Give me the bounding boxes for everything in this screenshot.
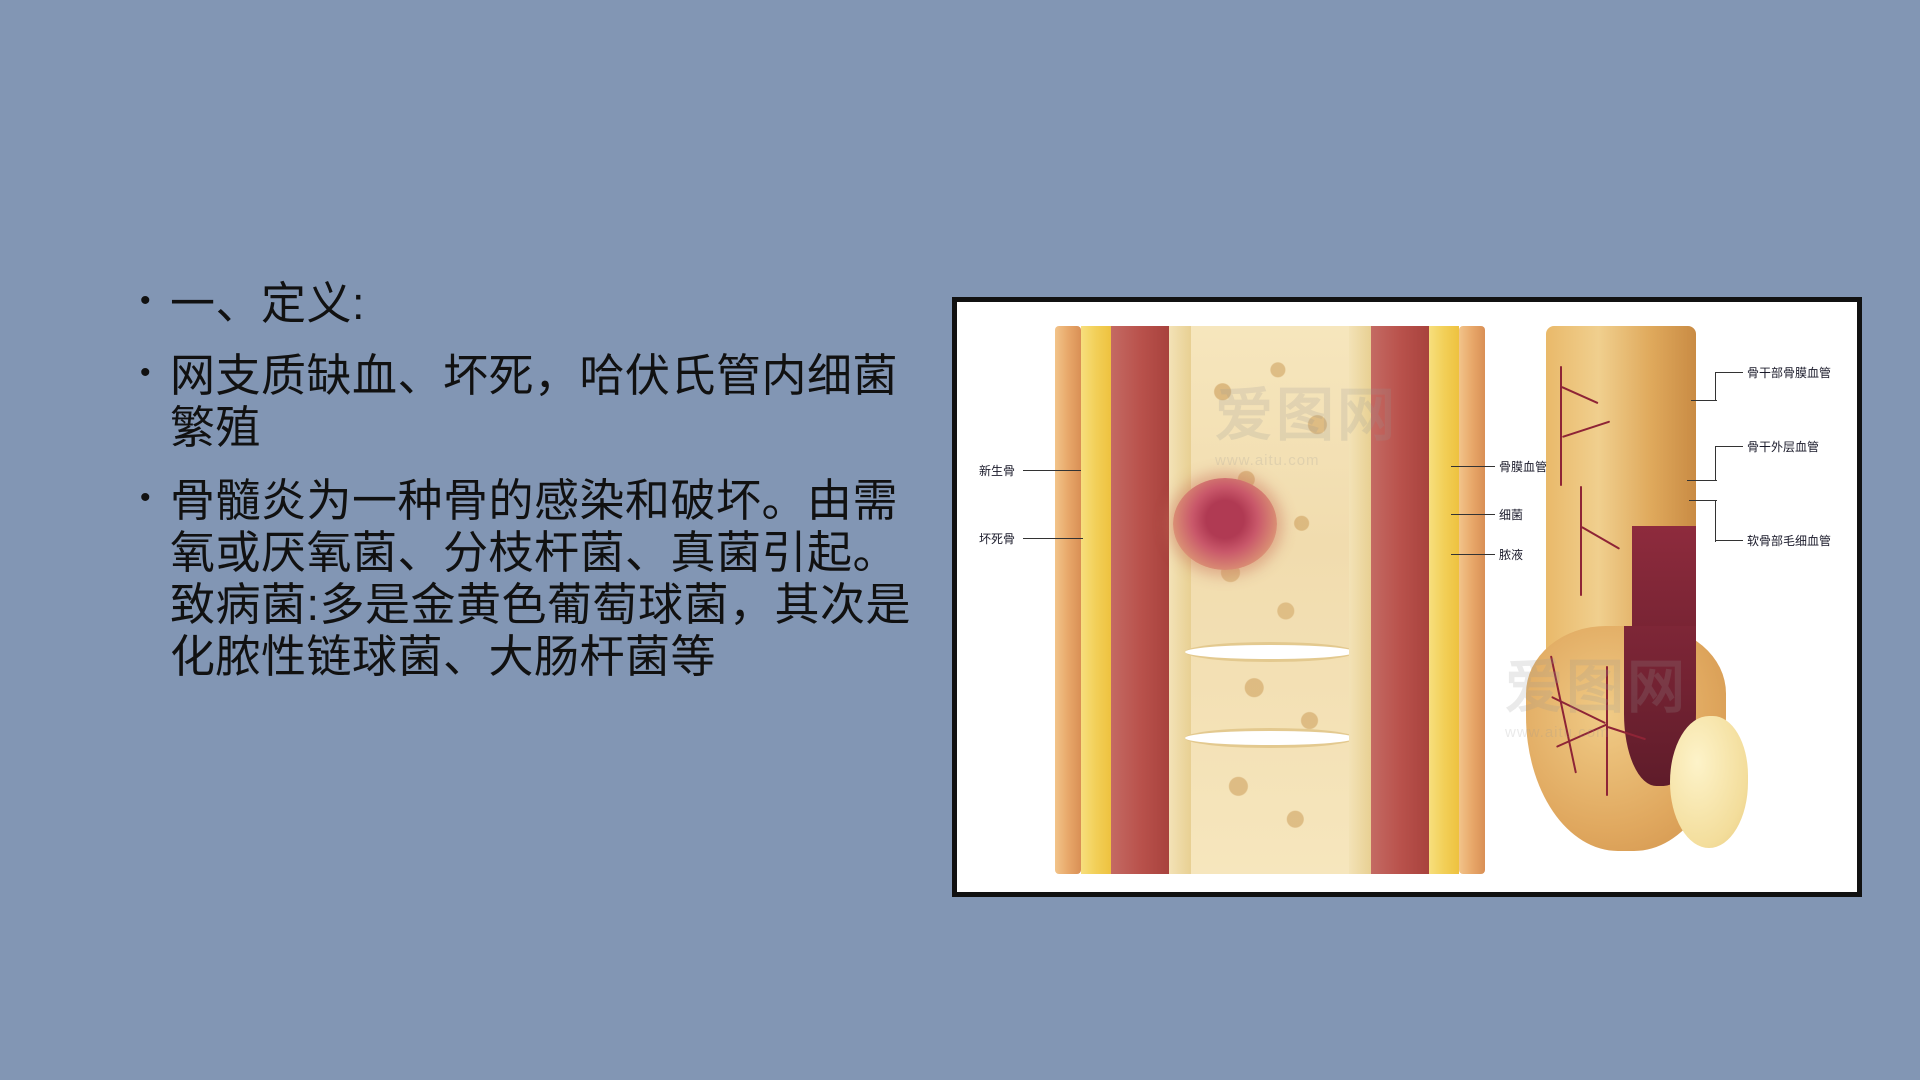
leader-line-cartilage-capillary (1715, 540, 1743, 541)
bullet-list: • 一、定义: • 网支质缺血、坏死，哈伏氏管内细菌繁殖 • 骨髓炎为一种骨的感… (140, 278, 940, 683)
bullet-item-definition-heading: • 一、定义: (140, 278, 940, 330)
leader-line-new-bone (1023, 470, 1081, 471)
label-text: 骨干部骨膜血管 (1747, 366, 1831, 380)
figure-canvas: 爱图网 www.aitu.com 爱图网 www.aitu.com 新生骨 坏死… (975, 320, 1839, 874)
leader-line-necrotic-bone (1023, 538, 1083, 539)
leader-line-diaphysis-outer (1715, 446, 1743, 447)
leader-line-pus (1451, 554, 1495, 555)
label-text: 骨干外层血管 (1747, 440, 1819, 454)
label-periosteal-vessel: 骨膜血管 (1499, 458, 1547, 475)
articular-cartilage (1670, 716, 1748, 848)
label-text: 新生骨 (979, 464, 1015, 478)
longitudinal-bone-section (1055, 326, 1485, 874)
bone-anatomy-figure: 爱图网 www.aitu.com 爱图网 www.aitu.com 新生骨 坏死… (952, 297, 1862, 897)
label-text: 骨膜血管 (1499, 460, 1547, 474)
bullet-marker-icon: • (140, 278, 170, 325)
infection-lesion (1173, 478, 1277, 570)
label-text: 细菌 (1499, 508, 1523, 522)
skin-layer-right (1459, 326, 1485, 874)
label-text: 软骨部毛细血管 (1747, 534, 1831, 548)
label-cartilage-capillary: 软骨部毛细血管 (1747, 532, 1831, 549)
bullet-marker-icon: • (140, 475, 170, 522)
cortical-bone-right (1349, 326, 1371, 874)
leader-line-bacteria (1451, 514, 1495, 515)
leader-line-cartilage-capillary-in (1689, 500, 1717, 501)
leader-bracket-right-top (1715, 372, 1716, 400)
vessel-branch (1560, 366, 1562, 486)
leader-line-diaphysis-periosteal (1715, 372, 1743, 373)
muscle-layer-left (1111, 326, 1169, 874)
skin-layer-left (1055, 326, 1081, 874)
label-bacteria: 细菌 (1499, 506, 1523, 523)
vessel-branch (1606, 666, 1608, 796)
leader-line-diaphysis-outer-in (1687, 480, 1717, 481)
leader-bracket-right-mid (1715, 446, 1716, 480)
label-new-bone: 新生骨 (979, 462, 1015, 479)
muscle-layer-right (1371, 326, 1429, 874)
bullet-text: 骨髓炎为一种骨的感染和破坏。由需氧或厌氧菌、分枝杆菌、真菌引起。致病菌:多是金黄… (170, 475, 940, 684)
leader-line-diaphysis-periosteal-in (1691, 400, 1717, 401)
label-text: 脓液 (1499, 548, 1523, 562)
leader-bracket-right-bottom (1715, 500, 1716, 542)
leader-line-periosteal-vessel (1451, 466, 1495, 467)
bullet-marker-icon: • (140, 350, 170, 397)
epiphyseal-line-lower (1185, 728, 1355, 748)
label-diaphysis-outer-vessel: 骨干外层血管 (1747, 438, 1819, 455)
label-pus: 脓液 (1499, 546, 1523, 563)
slide-root: • 一、定义: • 网支质缺血、坏死，哈伏氏管内细菌繁殖 • 骨髓炎为一种骨的感… (0, 0, 1920, 1080)
fat-layer-right (1429, 326, 1459, 874)
label-necrotic-bone: 坏死骨 (979, 530, 1015, 547)
vessel-branch (1580, 486, 1582, 596)
bullet-text: 一、定义: (170, 278, 940, 330)
bullet-text: 网支质缺血、坏死，哈伏氏管内细菌繁殖 (170, 350, 940, 454)
label-text: 坏死骨 (979, 532, 1015, 546)
bone-vascular-specimen (1520, 326, 1750, 874)
epiphyseal-line-upper (1185, 642, 1355, 662)
fat-layer-left (1081, 326, 1111, 874)
cortical-bone-left (1169, 326, 1191, 874)
trabecular-marrow (1191, 326, 1349, 874)
bullet-item-osteomyelitis: • 骨髓炎为一种骨的感染和破坏。由需氧或厌氧菌、分枝杆菌、真菌引起。致病菌:多是… (140, 475, 940, 684)
label-diaphysis-periosteal-vessel: 骨干部骨膜血管 (1747, 364, 1831, 381)
bullet-item-ischemia: • 网支质缺血、坏死，哈伏氏管内细菌繁殖 (140, 350, 940, 454)
